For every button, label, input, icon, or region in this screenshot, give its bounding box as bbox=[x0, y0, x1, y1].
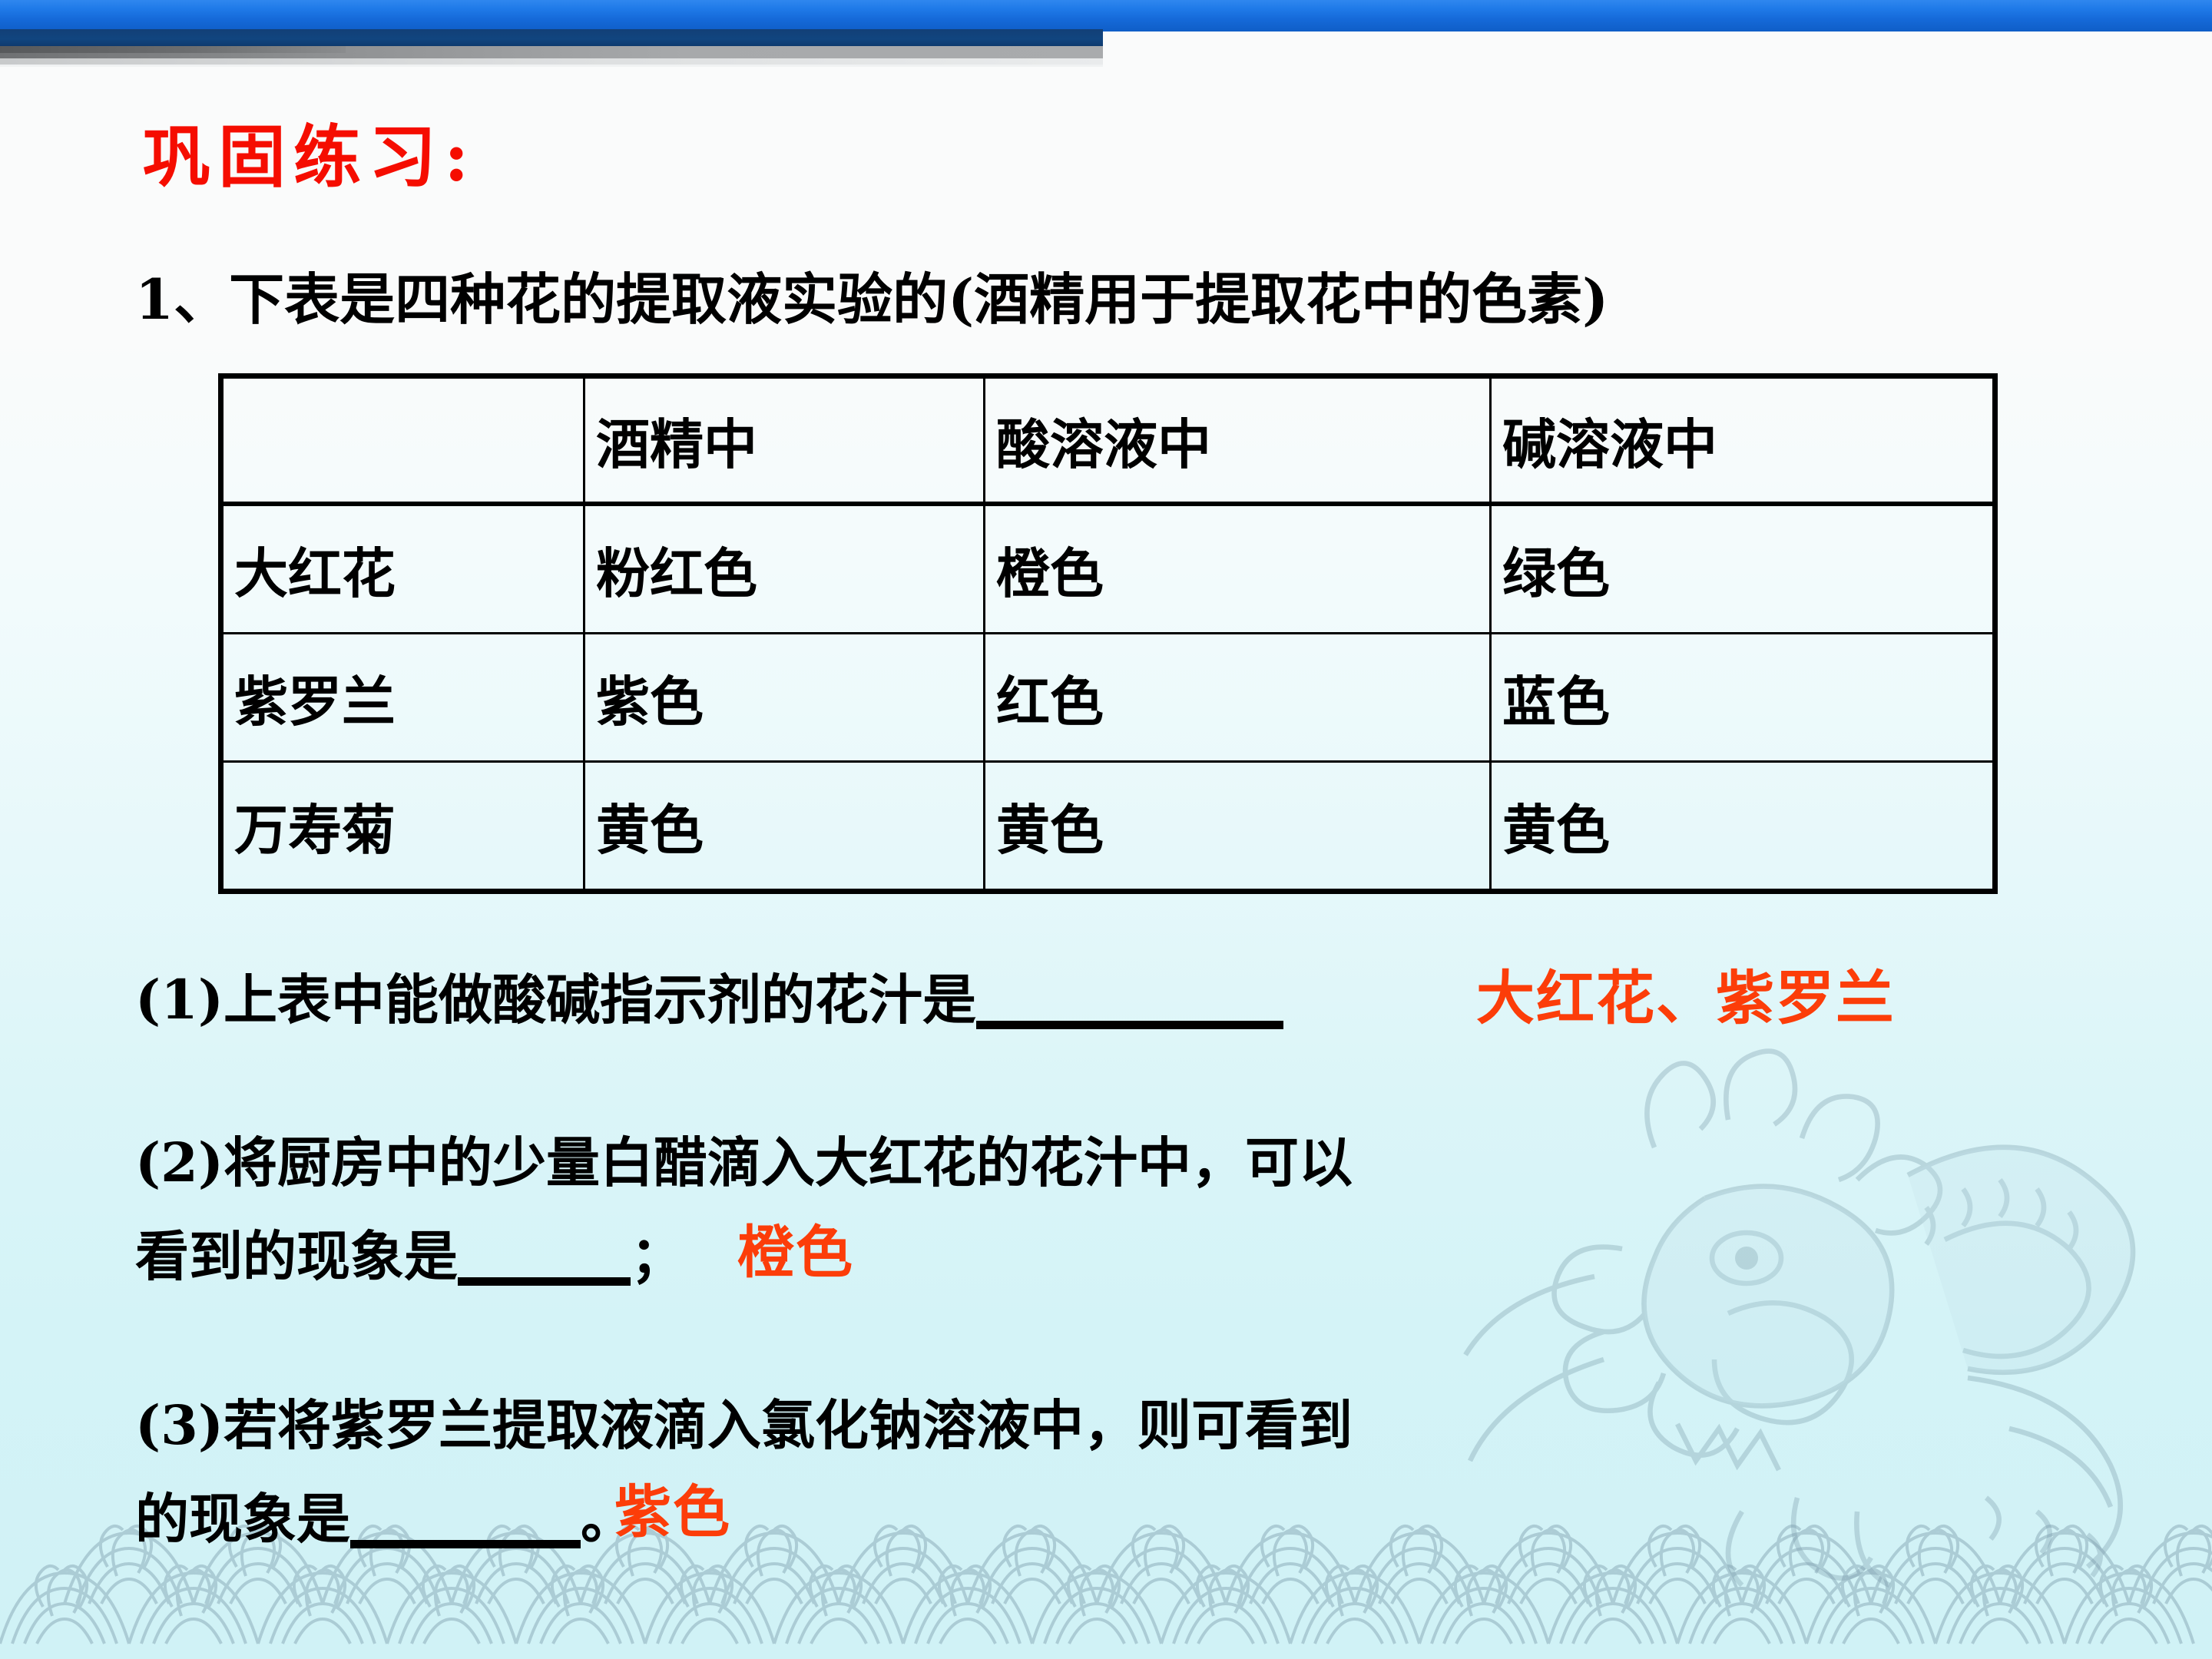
question-1-line: (1)上表中能做酸碱指示剂的花汁是 bbox=[135, 966, 1283, 1034]
table-header-cell-base: 碱溶液中 bbox=[1491, 376, 1995, 505]
question-2-line-2: 看到的现象是； bbox=[135, 1223, 684, 1290]
table-row: 大红花 粉红色 橙色 绿色 bbox=[221, 504, 1995, 634]
question-3-answer: 紫色 bbox=[614, 1484, 731, 1541]
question-1-blank[interactable] bbox=[976, 1021, 1283, 1029]
banner-gray-light-bar bbox=[0, 58, 1103, 65]
table-row: 紫罗兰 紫色 红色 蓝色 bbox=[221, 634, 1995, 762]
question-2-line-1: (2)将厨房中的少量白醋滴入大红花的花汁中，可以 bbox=[135, 1129, 1353, 1197]
table-cell-alcohol-1: 紫色 bbox=[584, 634, 985, 762]
table-cell-flower-1: 紫罗兰 bbox=[221, 634, 584, 762]
question-3-line-1: (3)若将紫罗兰提取液滴入氯化钠溶液中，则可看到 bbox=[135, 1392, 1353, 1459]
question-2-answer: 橙色 bbox=[737, 1224, 854, 1281]
table-header-row: 酒精中 酸溶液中 碱溶液中 bbox=[221, 376, 1995, 505]
table-cell-acid-2: 黄色 bbox=[985, 762, 1491, 892]
table-cell-base-0: 绿色 bbox=[1491, 504, 1995, 634]
table-cell-acid-0: 橙色 bbox=[985, 504, 1491, 634]
page-title: 巩固练习: bbox=[143, 123, 477, 190]
slide-canvas: 巩固练习: 1、下表是四种花的提取液实验的(酒精用于提取花中的色素) 酒精中 酸… bbox=[0, 0, 2212, 1659]
banner-navy-bar bbox=[0, 29, 1103, 46]
table-cell-base-1: 蓝色 bbox=[1491, 634, 1995, 762]
table-cell-flower-0: 大红花 bbox=[221, 504, 584, 634]
table-cell-base-2: 黄色 bbox=[1491, 762, 1995, 892]
table-cell-alcohol-0: 粉红色 bbox=[584, 504, 985, 634]
table-header-cell-alcohol: 酒精中 bbox=[584, 376, 985, 505]
question-2-tail: ； bbox=[631, 1224, 684, 1288]
question-2-prompt: 看到的现象是 bbox=[135, 1224, 458, 1288]
question-3-blank[interactable] bbox=[350, 1540, 581, 1548]
question-1-prompt: (1)上表中能做酸碱指示剂的花汁是 bbox=[135, 968, 976, 1031]
question-3-prompt: 的现象是 bbox=[135, 1487, 350, 1551]
question-stem: 1、下表是四种花的提取液实验的(酒精用于提取花中的色素) bbox=[135, 269, 1608, 329]
table-header-cell-corner bbox=[221, 376, 584, 505]
question-1-answer: 大红花、紫罗兰 bbox=[1476, 969, 1896, 1028]
table-cell-alcohol-2: 黄色 bbox=[584, 762, 985, 892]
question-3-line-2: 的现象是。 bbox=[135, 1485, 634, 1553]
banner-gray-shadow bbox=[0, 46, 346, 53]
question-2-blank[interactable] bbox=[458, 1277, 631, 1286]
table-cell-flower-2: 万寿菊 bbox=[221, 762, 584, 892]
banner-blue-bar bbox=[0, 0, 2212, 31]
table-header-cell-acid: 酸溶液中 bbox=[985, 376, 1491, 505]
flower-extract-table: 酒精中 酸溶液中 碱溶液中 大红花 粉红色 橙色 绿色 紫罗兰 紫色 红色 蓝色… bbox=[218, 373, 1998, 894]
banner-hairline bbox=[0, 65, 1103, 67]
table-row: 万寿菊 黄色 黄色 黄色 bbox=[221, 762, 1995, 892]
chinese-dragon-watermark-icon bbox=[1382, 1037, 2212, 1636]
table-cell-acid-1: 红色 bbox=[985, 634, 1491, 762]
